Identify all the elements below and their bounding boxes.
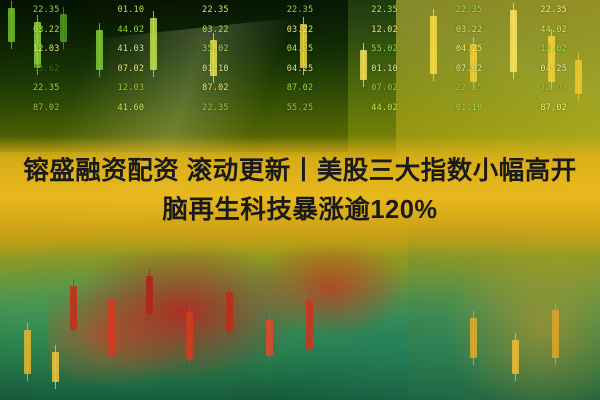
ticker-value: 33.62 xyxy=(33,65,60,74)
ticker-value: 12.03 xyxy=(118,84,145,93)
ticker-value: 44.02 xyxy=(540,26,567,35)
ticker-value: 01.10 xyxy=(371,65,398,74)
ticker-column: 22.3503.2235.0201.1087.0222.35 xyxy=(173,2,258,150)
ticker-value: 03.22 xyxy=(456,26,483,35)
ticker-column: 22.3512.0255.0201.1007.0244.02 xyxy=(342,2,427,150)
ticker-value: 22.35 xyxy=(540,6,567,15)
ticker-value: 22.35 xyxy=(456,6,483,15)
ticker-value: 01.10 xyxy=(456,104,483,113)
ticker-value: 22.35 xyxy=(371,6,398,15)
ticker-value: 01.10 xyxy=(202,65,229,74)
headline: 镕盛融资配资 滚动更新丨美股三大指数小幅高开 脑再生科技暴涨逾120% xyxy=(0,152,600,230)
ticker-value: 41.03 xyxy=(118,45,145,54)
ticker-value: 22.35 xyxy=(33,6,60,15)
ticker-value: 12.03 xyxy=(540,84,567,93)
news-thumbnail-image: 22.3503.2212.0333.6222.3587.0201.1044.02… xyxy=(0,0,600,400)
ticker-value: 87.02 xyxy=(33,104,60,113)
ticker-column: 22.3503.2204.2504.2587.0255.25 xyxy=(258,2,343,150)
ticker-value: 87.02 xyxy=(287,84,314,93)
ticker-value: 01.10 xyxy=(118,6,145,15)
ticker-value: 22.35 xyxy=(287,6,314,15)
ticker-value: 03.22 xyxy=(287,26,314,35)
ticker-value: 04.25 xyxy=(456,45,483,54)
ticker-value: 04.25 xyxy=(540,65,567,74)
ticker-value: 55.02 xyxy=(371,45,398,54)
stock-ticker-number-grid: 22.3503.2212.0333.6222.3587.0201.1044.02… xyxy=(0,0,600,150)
ticker-value: 07.02 xyxy=(371,84,398,93)
headline-line-2: 脑再生科技暴涨逾120% xyxy=(10,191,590,230)
ticker-value: 22.35 xyxy=(33,84,60,93)
ticker-value: 87.02 xyxy=(540,104,567,113)
ticker-value: 12.02 xyxy=(540,45,567,54)
ticker-value: 04.25 xyxy=(287,45,314,54)
ticker-value: 22.35 xyxy=(202,104,229,113)
ticker-column: 22.3544.0212.0204.2512.0387.02 xyxy=(511,2,596,150)
ticker-column: 01.1044.0241.0307.0212.0341.60 xyxy=(89,2,174,150)
ticker-value: 03.22 xyxy=(202,26,229,35)
ticker-value: 07.02 xyxy=(456,65,483,74)
ticker-value: 07.02 xyxy=(118,65,145,74)
ticker-value: 22.35 xyxy=(202,6,229,15)
ticker-column: 22.3503.2212.0333.6222.3587.02 xyxy=(4,2,89,150)
ticker-value: 55.25 xyxy=(287,104,314,113)
ticker-value: 44.02 xyxy=(118,26,145,35)
ticker-value: 03.22 xyxy=(33,26,60,35)
ticker-column: 22.3503.2204.2507.0222.3501.10 xyxy=(427,2,512,150)
ticker-value: 22.35 xyxy=(456,84,483,93)
headline-line-1: 镕盛融资配资 滚动更新丨美股三大指数小幅高开 xyxy=(10,152,590,191)
ticker-value: 41.60 xyxy=(118,104,145,113)
ticker-value: 87.02 xyxy=(202,84,229,93)
ticker-value: 04.25 xyxy=(287,65,314,74)
ticker-value: 44.02 xyxy=(371,104,398,113)
ticker-value: 12.02 xyxy=(371,26,398,35)
ticker-value: 35.02 xyxy=(202,45,229,54)
ticker-value: 12.03 xyxy=(33,45,60,54)
